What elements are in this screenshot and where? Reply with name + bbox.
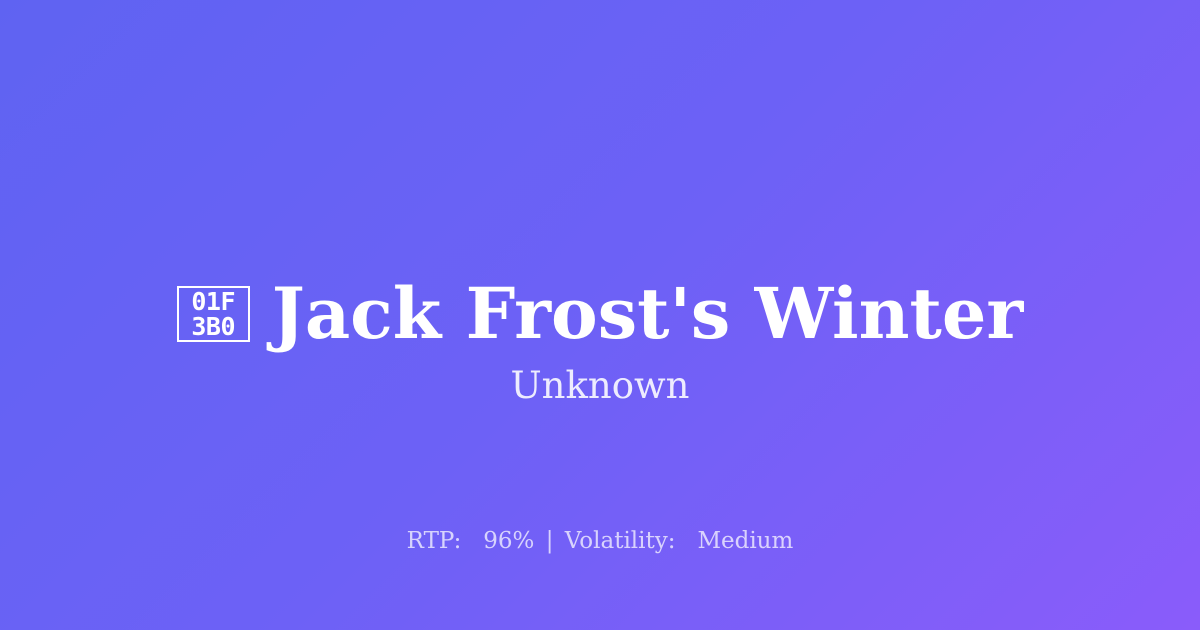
rtp-label: RTP: [407, 528, 462, 554]
game-meta: RTP: 96% | Volatility: Medium [0, 528, 1200, 556]
meta-separator: | [542, 528, 558, 554]
tofu-codepoint-lower: 3B0 [191, 314, 235, 339]
slot-machine-icon: 01F 3B0 [177, 286, 250, 342]
volatility-label: Volatility: [565, 528, 676, 554]
provider-name: Unknown [0, 366, 1200, 407]
game-title: Jack Frost's Winter [272, 279, 1024, 349]
rtp-value: 96% [483, 528, 534, 554]
game-preview-card: 01F 3B0 Jack Frost's Winter Unknown RTP:… [0, 0, 1200, 630]
volatility-value: Medium [697, 528, 793, 554]
tofu-codepoint-upper: 01F [191, 289, 235, 314]
